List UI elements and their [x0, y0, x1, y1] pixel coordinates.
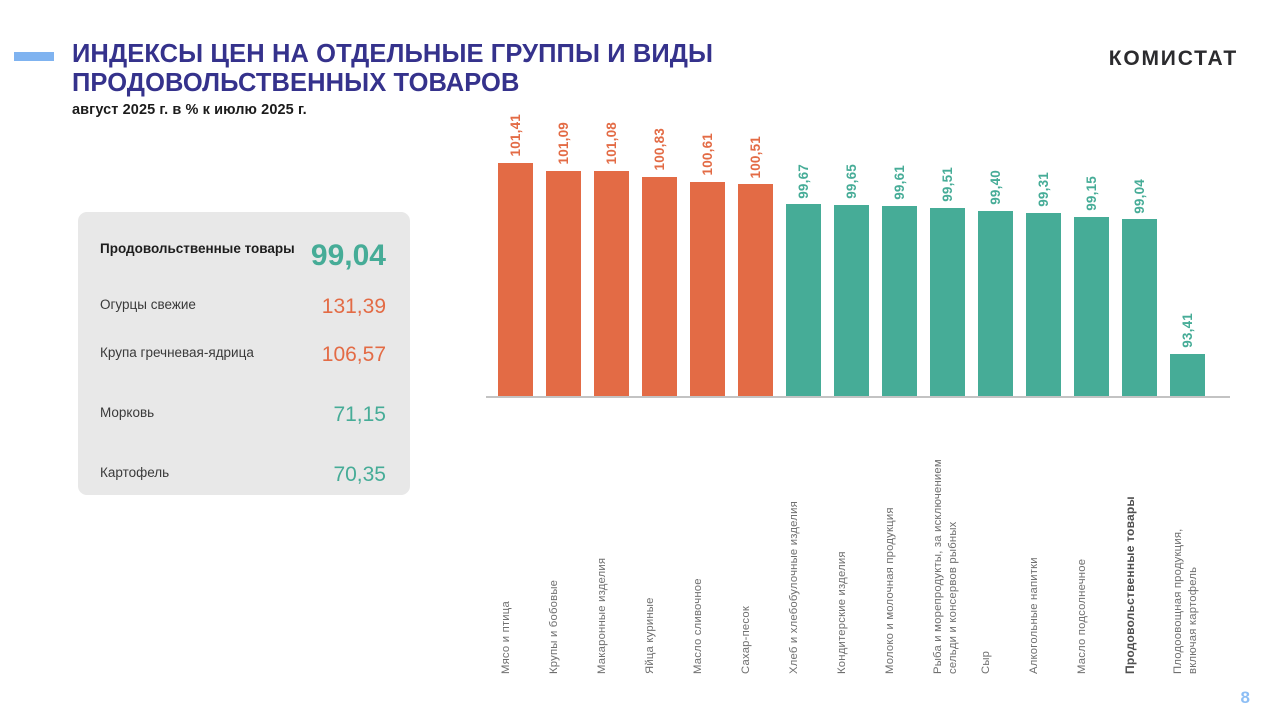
summary-row-value: 70,35 — [333, 464, 386, 486]
chart-category-label-slot: Хлеб и хлебобулочные изделия — [780, 404, 828, 674]
brand-logo: КОМИСТАТ — [1109, 47, 1238, 71]
summary-row-value: 71,15 — [333, 404, 386, 426]
chart-bar[interactable] — [978, 211, 1013, 397]
chart-bar-slot: 101,09 — [540, 150, 588, 397]
summary-row-carrot: Морковь 71,15 — [100, 404, 386, 426]
chart-category-label-slot: Алкогольные напитки — [1020, 404, 1068, 674]
chart-bar[interactable] — [690, 182, 725, 397]
page-subtitle: август 2025 г. в % к июлю 2025 г. — [72, 102, 872, 118]
summary-card: Продовольственные товары 99,04 Огурцы св… — [78, 212, 410, 495]
chart-category-label: Сахар-песок — [739, 404, 754, 674]
chart-category-label-slot: Масло сливочное — [684, 404, 732, 674]
chart-bar[interactable] — [594, 171, 629, 397]
page-header: ИНДЕКСЫ ЦЕН НА ОТДЕЛЬНЫЕ ГРУППЫ И ВИДЫ П… — [0, 0, 1280, 150]
chart-bar-slot: 99,51 — [924, 150, 972, 397]
chart-category-label: Продовольственные товары — [1123, 404, 1138, 674]
summary-row-label: Огурцы свежие — [100, 296, 196, 313]
chart-bar-slot: 100,51 — [732, 150, 780, 397]
summary-row-value: 106,57 — [322, 344, 386, 366]
summary-row-total: Продовольственные товары 99,04 — [100, 240, 386, 272]
chart-bar-value-label: 101,41 — [498, 114, 533, 157]
summary-row-label: Продовольственные товары — [100, 240, 295, 257]
chart-category-label-slot: Продовольственные товары — [1116, 404, 1164, 674]
chart-category-label-slot: Рыба и морепродукты, за исключением сель… — [924, 404, 972, 674]
chart-bar[interactable] — [1170, 354, 1205, 397]
chart-bar[interactable] — [786, 204, 821, 397]
summary-row-cucumbers: Огурцы свежие 131,39 — [100, 296, 386, 318]
chart-category-label: Масло подсолнечное — [1075, 404, 1090, 674]
summary-row-value: 131,39 — [322, 296, 386, 318]
chart-bar-value-label: 99,51 — [930, 167, 965, 202]
chart-category-label-slot: Мясо и птица — [492, 404, 540, 674]
summary-row-label: Морковь — [100, 404, 154, 421]
chart-category-label-slot: Масло подсолнечное — [1068, 404, 1116, 674]
chart-bar[interactable] — [546, 171, 581, 397]
chart-plot-area: 101,41101,09101,08100,83100,61100,5199,6… — [470, 150, 1230, 397]
chart-bar-slot: 100,61 — [684, 150, 732, 397]
chart-category-label: Масло сливочное — [691, 404, 706, 674]
chart-category-label-slot: Крупы и бобовые — [540, 404, 588, 674]
chart-bar[interactable] — [1122, 219, 1157, 397]
chart-bar[interactable] — [930, 208, 965, 397]
chart-category-label-slot: Плодоовощная продукция, включая картофел… — [1164, 404, 1212, 674]
chart-bar-value-label: 99,67 — [786, 164, 821, 199]
chart-bar-slot: 99,65 — [828, 150, 876, 397]
chart-bar-value-label: 99,15 — [1074, 176, 1109, 211]
summary-row-buckwheat: Крупа гречневая-ядрица 106,57 — [100, 344, 386, 366]
chart-bar[interactable] — [1026, 213, 1061, 397]
chart-bar-value-label: 100,51 — [738, 136, 773, 179]
page-number: 8 — [1241, 688, 1250, 708]
chart-bar-slot: 100,83 — [636, 150, 684, 397]
chart-baseline-axis — [486, 396, 1230, 398]
chart-bar-value-label: 101,09 — [546, 122, 581, 165]
chart-category-label-slot: Сыр — [972, 404, 1020, 674]
chart-category-label: Яйца куриные — [643, 404, 658, 674]
chart-category-label: Макаронные изделия — [595, 404, 610, 674]
chart-bar-slot: 99,40 — [972, 150, 1020, 397]
chart-bar[interactable] — [1074, 217, 1109, 397]
chart-bar-value-label: 100,61 — [690, 133, 725, 176]
chart-category-label: Алкогольные напитки — [1027, 404, 1042, 674]
chart-bar-slot: 99,31 — [1020, 150, 1068, 397]
chart-bar-value-label: 99,40 — [978, 170, 1013, 205]
chart-category-label-slot: Яйца куриные — [636, 404, 684, 674]
chart-bar[interactable] — [738, 184, 773, 397]
accent-bar-icon — [14, 52, 54, 61]
chart-bar-slot: 93,41 — [1164, 150, 1212, 397]
chart-category-label: Хлеб и хлебобулочные изделия — [787, 404, 802, 674]
chart-bar-value-label: 93,41 — [1170, 313, 1205, 348]
chart-bar[interactable] — [882, 206, 917, 397]
chart-category-label-slot: Кондитерские изделия — [828, 404, 876, 674]
chart-bar-value-label: 99,65 — [834, 164, 869, 199]
chart-bar-slot: 99,61 — [876, 150, 924, 397]
chart-category-label: Плодоовощная продукция, включая картофел… — [1171, 404, 1201, 674]
title-block: ИНДЕКСЫ ЦЕН НА ОТДЕЛЬНЫЕ ГРУППЫ И ВИДЫ П… — [72, 40, 872, 118]
chart-category-label-slot: Макаронные изделия — [588, 404, 636, 674]
chart-category-label-slot: Сахар-песок — [732, 404, 780, 674]
chart-category-label: Кондитерские изделия — [835, 404, 850, 674]
summary-row-potato: Картофель 70,35 — [100, 464, 386, 486]
page-title: ИНДЕКСЫ ЦЕН НА ОТДЕЛЬНЫЕ ГРУППЫ И ВИДЫ П… — [72, 40, 872, 98]
chart-bar-slot: 101,08 — [588, 150, 636, 397]
chart-bar[interactable] — [498, 163, 533, 397]
chart-category-label: Сыр — [979, 404, 994, 674]
chart-bar[interactable] — [642, 177, 677, 397]
chart-category-label: Мясо и птица — [499, 404, 514, 674]
chart-category-label: Крупы и бобовые — [547, 404, 562, 674]
chart-category-label-slot: Молоко и молочная продукция — [876, 404, 924, 674]
chart-bar-value-label: 101,08 — [594, 122, 629, 165]
summary-row-label: Крупа гречневая-ядрица — [100, 344, 254, 361]
chart-bar-value-label: 99,31 — [1026, 172, 1061, 207]
chart-bar[interactable] — [834, 205, 869, 397]
chart-category-label: Рыба и морепродукты, за исключением сель… — [931, 404, 961, 674]
chart-bar-value-label: 99,61 — [882, 165, 917, 200]
chart-bar-slot: 101,41 — [492, 150, 540, 397]
summary-row-label: Картофель — [100, 464, 169, 481]
chart-bar-slot: 99,67 — [780, 150, 828, 397]
chart-bar-value-label: 100,83 — [642, 128, 677, 171]
chart-category-label: Молоко и молочная продукция — [883, 404, 898, 674]
bar-chart: 101,41101,09101,08100,83100,61100,5199,6… — [470, 150, 1260, 680]
chart-bar-slot: 99,04 — [1116, 150, 1164, 397]
chart-bar-value-label: 99,04 — [1122, 179, 1157, 214]
chart-bar-slot: 99,15 — [1068, 150, 1116, 397]
summary-row-value: 99,04 — [311, 240, 386, 272]
